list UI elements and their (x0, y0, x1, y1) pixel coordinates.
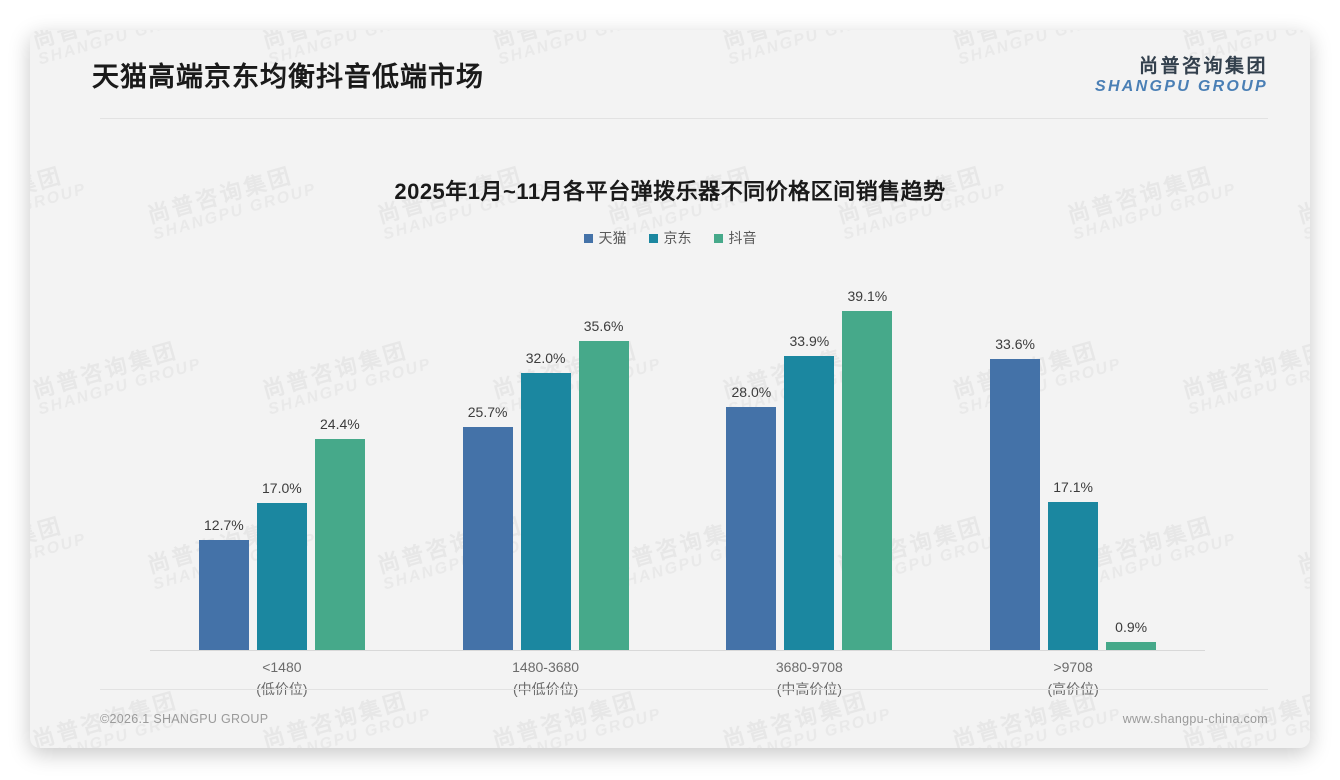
x-axis-tick-main: 3680-9708 (776, 659, 843, 675)
header-divider (100, 118, 1268, 119)
bar-item[interactable]: 17.0% (257, 261, 307, 650)
legend-label: 抖音 (729, 228, 757, 248)
bar-value-label: 0.9% (1086, 619, 1176, 635)
x-axis-line (150, 650, 1205, 651)
logo-chinese-text: 尚普咨询集团 (1095, 56, 1268, 78)
bar-rect[interactable] (990, 359, 1040, 650)
bar-item[interactable]: 24.4% (315, 261, 365, 650)
x-axis-tick-main: >9708 (1053, 659, 1092, 675)
bar-item[interactable]: 12.7% (199, 261, 249, 650)
bar-rect[interactable] (521, 373, 571, 650)
legend-label: 京东 (664, 228, 692, 248)
bar-group: 12.7%17.0%24.4% (150, 261, 414, 650)
x-axis-tick-main: 1480-3680 (512, 659, 579, 675)
bar-group: 25.7%32.0%35.6% (414, 261, 678, 650)
chart-container: 2025年1月~11月各平台弹拨乐器不同价格区间销售趋势 天猫京东抖音 12.7… (30, 126, 1310, 688)
bar-value-label: 33.6% (970, 336, 1060, 352)
bar-rect[interactable] (726, 407, 776, 650)
legend-item-京东[interactable]: 京东 (649, 228, 692, 248)
bar-rect[interactable] (463, 427, 513, 650)
chart-title: 2025年1月~11月各平台弹拨乐器不同价格区间销售趋势 (30, 174, 1310, 206)
legend-label: 天猫 (599, 228, 627, 248)
bar-rect[interactable] (315, 439, 365, 650)
legend-item-抖音[interactable]: 抖音 (714, 228, 757, 248)
bar-rect[interactable] (842, 311, 892, 650)
bar-value-label: 17.1% (1028, 479, 1118, 495)
bar-item[interactable]: 17.1% (1048, 261, 1098, 650)
bar-value-label: 12.7% (179, 517, 269, 533)
slide-card: 尚普咨询集团SHANGPU GROUP尚普咨询集团SHANGPU GROUP尚普… (30, 30, 1310, 748)
bar-group: 33.6%17.1%0.9% (941, 261, 1205, 650)
bar-rect[interactable] (199, 540, 249, 650)
footer-divider (100, 689, 1268, 690)
page-title: 天猫高端京东均衡抖音低端市场 (92, 55, 484, 94)
legend-swatch-icon (649, 234, 658, 243)
bar-item[interactable]: 28.0% (726, 261, 776, 650)
bar-rect[interactable] (257, 503, 307, 650)
bar-value-label: 28.0% (706, 384, 796, 400)
legend-item-天猫[interactable]: 天猫 (584, 228, 627, 248)
bar-item[interactable]: 33.6% (990, 261, 1040, 650)
bar-rect[interactable] (1106, 642, 1156, 650)
x-axis-tick-main: <1480 (262, 659, 301, 675)
bar-item[interactable]: 25.7% (463, 261, 513, 650)
legend-swatch-icon (584, 234, 593, 243)
bar-value-label: 17.0% (237, 480, 327, 496)
footer-website: www.shangpu-china.com (1123, 712, 1268, 726)
x-axis-tick: >9708(高价位) (941, 657, 1205, 700)
bar-rect[interactable] (579, 341, 629, 650)
bar-value-label: 24.4% (295, 416, 385, 432)
logo-english-text: SHANGPU GROUP (1095, 78, 1268, 96)
chart-legend: 天猫京东抖音 (30, 229, 1310, 247)
chart-plot-area: 12.7%17.0%24.4%25.7%32.0%35.6%28.0%33.9%… (110, 261, 1230, 651)
x-axis-labels: <1480(低价位)1480-3680(中低价位)3680-9708(中高价位)… (150, 657, 1205, 700)
bar-groups: 12.7%17.0%24.4%25.7%32.0%35.6%28.0%33.9%… (150, 261, 1205, 650)
bar-value-label: 39.1% (822, 288, 912, 304)
x-axis-tick: 3680-9708(中高价位) (678, 657, 942, 700)
bar-value-label: 35.6% (559, 318, 649, 334)
brand-logo: 尚普咨询集团 SHANGPU GROUP (1095, 56, 1268, 96)
bar-value-label: 25.7% (443, 404, 533, 420)
slide-footer: ©2026.1 SHANGPU GROUP www.shangpu-china.… (100, 708, 1268, 730)
footer-copyright: ©2026.1 SHANGPU GROUP (100, 712, 268, 726)
bar-item[interactable]: 35.6% (579, 261, 629, 650)
x-axis-tick: <1480(低价位) (150, 657, 414, 700)
bar-item[interactable]: 33.9% (784, 261, 834, 650)
bar-item[interactable]: 0.9% (1106, 261, 1156, 650)
bar-item[interactable]: 39.1% (842, 261, 892, 650)
legend-swatch-icon (714, 234, 723, 243)
bar-value-label: 33.9% (764, 333, 854, 349)
bar-rect[interactable] (784, 356, 834, 650)
slide-header: 天猫高端京东均衡抖音低端市场 尚普咨询集团 SHANGPU GROUP (30, 30, 1310, 118)
x-axis-tick: 1480-3680(中低价位) (414, 657, 678, 700)
bar-group: 28.0%33.9%39.1% (678, 261, 942, 650)
bar-value-label: 32.0% (501, 350, 591, 366)
